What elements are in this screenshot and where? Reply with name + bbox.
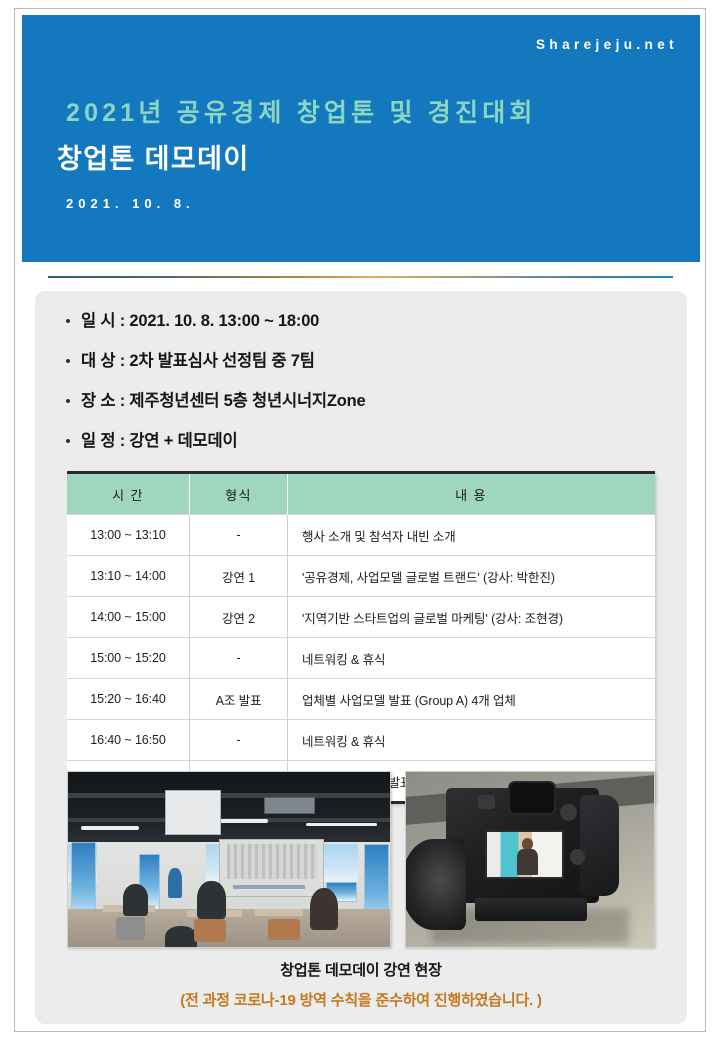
cell-time: 15:20 ~ 16:40 — [67, 679, 190, 720]
table-row: 13:00 ~ 13:10 - 행사 소개 및 참석자 내빈 소개 — [67, 515, 655, 556]
cell-desc: 네트워킹 & 휴식 — [288, 720, 656, 761]
cell-desc: 행사 소개 및 참석자 내빈 소개 — [288, 515, 656, 556]
content-panel: • 일 시 : 2021. 10. 8. 13:00 ~ 18:00 • 대 상… — [35, 291, 687, 1024]
column-header-type: 형식 — [190, 474, 288, 515]
poster-title-line1: 2021년 공유경제 창업톤 및 경진대회 — [66, 93, 537, 129]
cell-time: 15:00 ~ 15:20 — [67, 638, 190, 679]
cell-desc: '공유경제, 사업모델 글로벌 트랜드' (강사: 박한진) — [288, 556, 656, 597]
bullet-icon: • — [55, 314, 81, 329]
dslr-camera-photo — [405, 771, 655, 948]
poster-page: Sharejeju.net 2021년 공유경제 창업톤 및 경진대회 창업톤 … — [14, 8, 706, 1032]
cell-time: 16:40 ~ 16:50 — [67, 720, 190, 761]
site-url-label: Sharejeju.net — [536, 37, 678, 52]
cell-desc: 업체별 사업모델 발표 (Group A) 4개 업체 — [288, 679, 656, 720]
event-info-list: • 일 시 : 2021. 10. 8. 13:00 ~ 18:00 • 대 상… — [55, 307, 655, 467]
info-item-label: 장 소 : 제주청년센터 5층 청년시너지Zone — [81, 387, 366, 411]
info-item-label: 일 시 : 2021. 10. 8. 13:00 ~ 18:00 — [81, 307, 319, 331]
table-row: 15:20 ~ 16:40 A조 발표 업체별 사업모델 발표 (Group A… — [67, 679, 655, 720]
info-item-label: 일 정 : 강연 + 데모데이 — [81, 427, 238, 451]
cell-type: - — [190, 720, 288, 761]
cell-desc: '지역기반 스타트업의 글로벌 마케팅' (강사: 조현경) — [288, 597, 656, 638]
column-header-desc: 내 용 — [288, 474, 656, 515]
bullet-icon: • — [55, 394, 81, 409]
gradient-divider — [48, 276, 673, 278]
cell-desc: 네트워킹 & 휴식 — [288, 638, 656, 679]
poster-date-label: 2021. 10. 8. — [66, 196, 195, 211]
table-row: 16:40 ~ 16:50 - 네트워킹 & 휴식 — [67, 720, 655, 761]
schedule-table: 시 간 형식 내 용 13:00 ~ 13:10 - 행사 소개 및 참석자 내… — [67, 474, 655, 801]
info-item-label: 대 상 : 2차 발표심사 선정팀 중 7팀 — [81, 347, 315, 371]
table-row: 13:10 ~ 14:00 강연 1 '공유경제, 사업모델 글로벌 트랜드' … — [67, 556, 655, 597]
poster-header: Sharejeju.net 2021년 공유경제 창업톤 및 경진대회 창업톤 … — [22, 15, 700, 262]
cell-time: 13:00 ~ 13:10 — [67, 515, 190, 556]
cell-type: A조 발표 — [190, 679, 288, 720]
table-row: 14:00 ~ 15:00 강연 2 '지역기반 스타트업의 글로벌 마케팅' … — [67, 597, 655, 638]
bullet-icon: • — [55, 354, 81, 369]
cell-type: 강연 1 — [190, 556, 288, 597]
cell-type: - — [190, 515, 288, 556]
photo-caption: 창업톤 데모데이 강연 현장 (전 과정 코로나-19 방역 수칙을 준수하여 … — [35, 959, 687, 1010]
cell-type: 강연 2 — [190, 597, 288, 638]
caption-line1: 창업톤 데모데이 강연 현장 — [35, 959, 687, 980]
caption-line2: (전 과정 코로나-19 방역 수칙을 준수하여 진행하였습니다. ) — [35, 989, 687, 1010]
photo-row — [67, 771, 655, 948]
table-row: 15:00 ~ 15:20 - 네트워킹 & 휴식 — [67, 638, 655, 679]
table-header-row: 시 간 형식 내 용 — [67, 474, 655, 515]
cell-time: 14:00 ~ 15:00 — [67, 597, 190, 638]
list-item: • 일 시 : 2021. 10. 8. 13:00 ~ 18:00 — [55, 307, 655, 347]
poster-title-line2: 창업톤 데모데이 — [57, 137, 250, 176]
list-item: • 대 상 : 2차 발표심사 선정팀 중 7팀 — [55, 347, 655, 387]
cell-type: - — [190, 638, 288, 679]
bullet-icon: • — [55, 434, 81, 449]
lecture-hall-photo — [67, 771, 391, 948]
schedule-table-wrapper: 시 간 형식 내 용 13:00 ~ 13:10 - 행사 소개 및 참석자 내… — [67, 471, 655, 804]
list-item: • 일 정 : 강연 + 데모데이 — [55, 427, 655, 467]
cell-time: 13:10 ~ 14:00 — [67, 556, 190, 597]
list-item: • 장 소 : 제주청년센터 5층 청년시너지Zone — [55, 387, 655, 427]
column-header-time: 시 간 — [67, 474, 190, 515]
